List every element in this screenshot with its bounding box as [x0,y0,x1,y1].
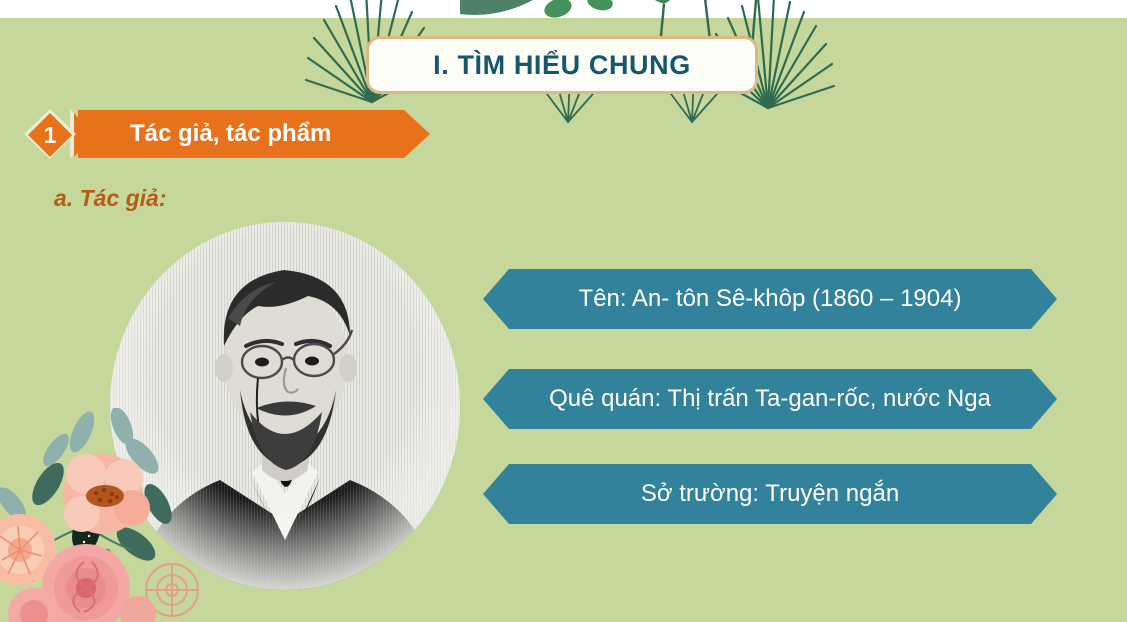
section-number-label: 1 [44,124,57,147]
section-number-diamond: 1 [28,113,72,157]
slide-canvas: I. TÌM HIỂU CHUNG 1 Tác giả, tác phẩm a.… [0,0,1127,622]
top-white-strip [0,0,1127,18]
section-banner[interactable]: 1 Tác giả, tác phẩm [18,110,430,158]
author-portrait [110,222,460,590]
fact-label-hometown: Quê quán: Thị trấn Ta-gan-rốc, nước Nga [549,385,991,413]
page-title: I. TÌM HIỂU CHUNG [433,50,691,81]
slide-title-box: I. TÌM HIỂU CHUNG [366,36,758,94]
fact-banner-name[interactable]: Tên: An- tôn Sê-khôp (1860 – 1904) [483,269,1057,329]
fact-label-name: Tên: An- tôn Sê-khôp (1860 – 1904) [579,285,962,313]
sub-heading: a. Tác giả: [54,185,166,212]
fact-banner-hometown[interactable]: Quê quán: Thị trấn Ta-gan-rốc, nước Nga [483,369,1057,429]
section-title-label: Tác giả, tác phẩm [130,110,331,158]
fact-label-specialty: Sở trường: Truyện ngắn [641,480,899,508]
fact-banner-specialty[interactable]: Sở trường: Truyện ngắn [483,464,1057,524]
